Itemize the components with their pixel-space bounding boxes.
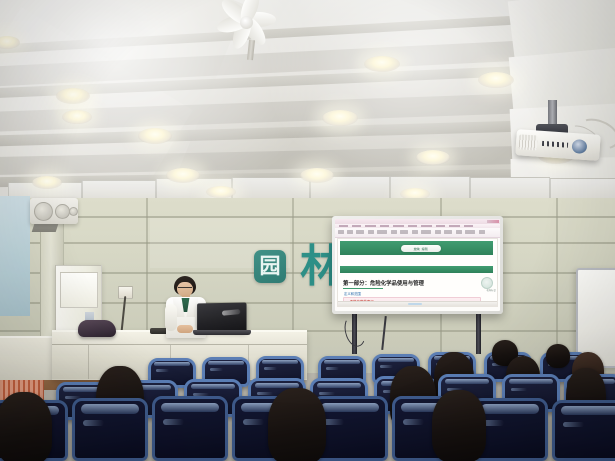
downlight xyxy=(300,168,334,183)
speaker-cone xyxy=(69,207,78,216)
slide-subtitle: 定义和范围 xyxy=(344,291,361,296)
slide-status-bar xyxy=(338,301,497,306)
downlight xyxy=(322,110,358,126)
window-close-icon[interactable] xyxy=(487,220,499,223)
projector-vent xyxy=(519,134,538,150)
seat[interactable] xyxy=(72,398,148,461)
ceiling xyxy=(0,0,615,215)
wall-speaker xyxy=(30,198,78,224)
lecture-hall-photo: 园 林 xyxy=(0,0,615,461)
downlight xyxy=(56,88,90,104)
presenter-hands xyxy=(177,325,193,333)
downlight xyxy=(62,110,92,124)
presentation-slide[interactable]: 放映 编辑 第一部分：危险化学品使用与管理 定义和范围 机构标识 危险化学品定义… xyxy=(337,238,498,307)
downlight xyxy=(32,176,62,189)
fan-hub xyxy=(240,16,253,29)
organization-logo-label: 机构标识 xyxy=(486,288,496,292)
attendee-head xyxy=(546,344,570,368)
attendee-head xyxy=(268,388,326,461)
slide-mode-pill[interactable]: 放映 编辑 xyxy=(401,245,441,252)
downlight xyxy=(206,186,236,198)
attendee-head xyxy=(432,390,486,461)
slide-accent-band xyxy=(340,266,493,273)
projector-lens xyxy=(571,139,587,154)
speaker-cone xyxy=(34,202,53,221)
eyeglasses-icon xyxy=(178,287,192,292)
downlight xyxy=(364,56,400,72)
downlight xyxy=(138,128,172,144)
speaker-bracket xyxy=(32,224,59,232)
wall-panel-seam xyxy=(0,216,615,218)
wall-sign-boxed-character: 园 xyxy=(254,250,286,283)
presenter-arm-left xyxy=(165,304,177,331)
attendee-head xyxy=(0,392,52,461)
projector-buttons[interactable] xyxy=(542,141,568,148)
downlight xyxy=(416,150,450,165)
seat[interactable] xyxy=(152,396,228,461)
tv-screen[interactable]: 放映 编辑 第一部分：危险化学品使用与管理 定义和范围 机构标识 危险化学品定义… xyxy=(335,219,500,311)
laptop-screen xyxy=(197,303,246,333)
downlight xyxy=(166,168,200,183)
status-indicator xyxy=(408,303,422,305)
laptop-base xyxy=(193,330,251,335)
laptop-screen-glare xyxy=(222,309,241,316)
slide-pill-left-label: 放映 xyxy=(414,247,420,251)
speaker-cone xyxy=(55,204,70,219)
seat[interactable] xyxy=(552,400,615,461)
tv-stand-leg xyxy=(476,312,481,354)
left-wall-blue-panel xyxy=(0,196,30,316)
downlight xyxy=(478,72,514,88)
wall-mounted-tv: 放映 编辑 第一部分：危险化学品使用与管理 定义和范围 机构标识 危险化学品定义… xyxy=(332,216,503,314)
slide-title: 第一部分：危险化学品使用与管理 xyxy=(343,279,424,287)
dark-bag xyxy=(78,320,116,337)
cabinet-door[interactable] xyxy=(60,272,98,308)
side-desk xyxy=(0,336,60,380)
app-ribbon-toolbar[interactable] xyxy=(335,228,500,238)
slide-pill-right-label: 编辑 xyxy=(422,247,428,251)
slide-title-rule xyxy=(343,288,383,289)
